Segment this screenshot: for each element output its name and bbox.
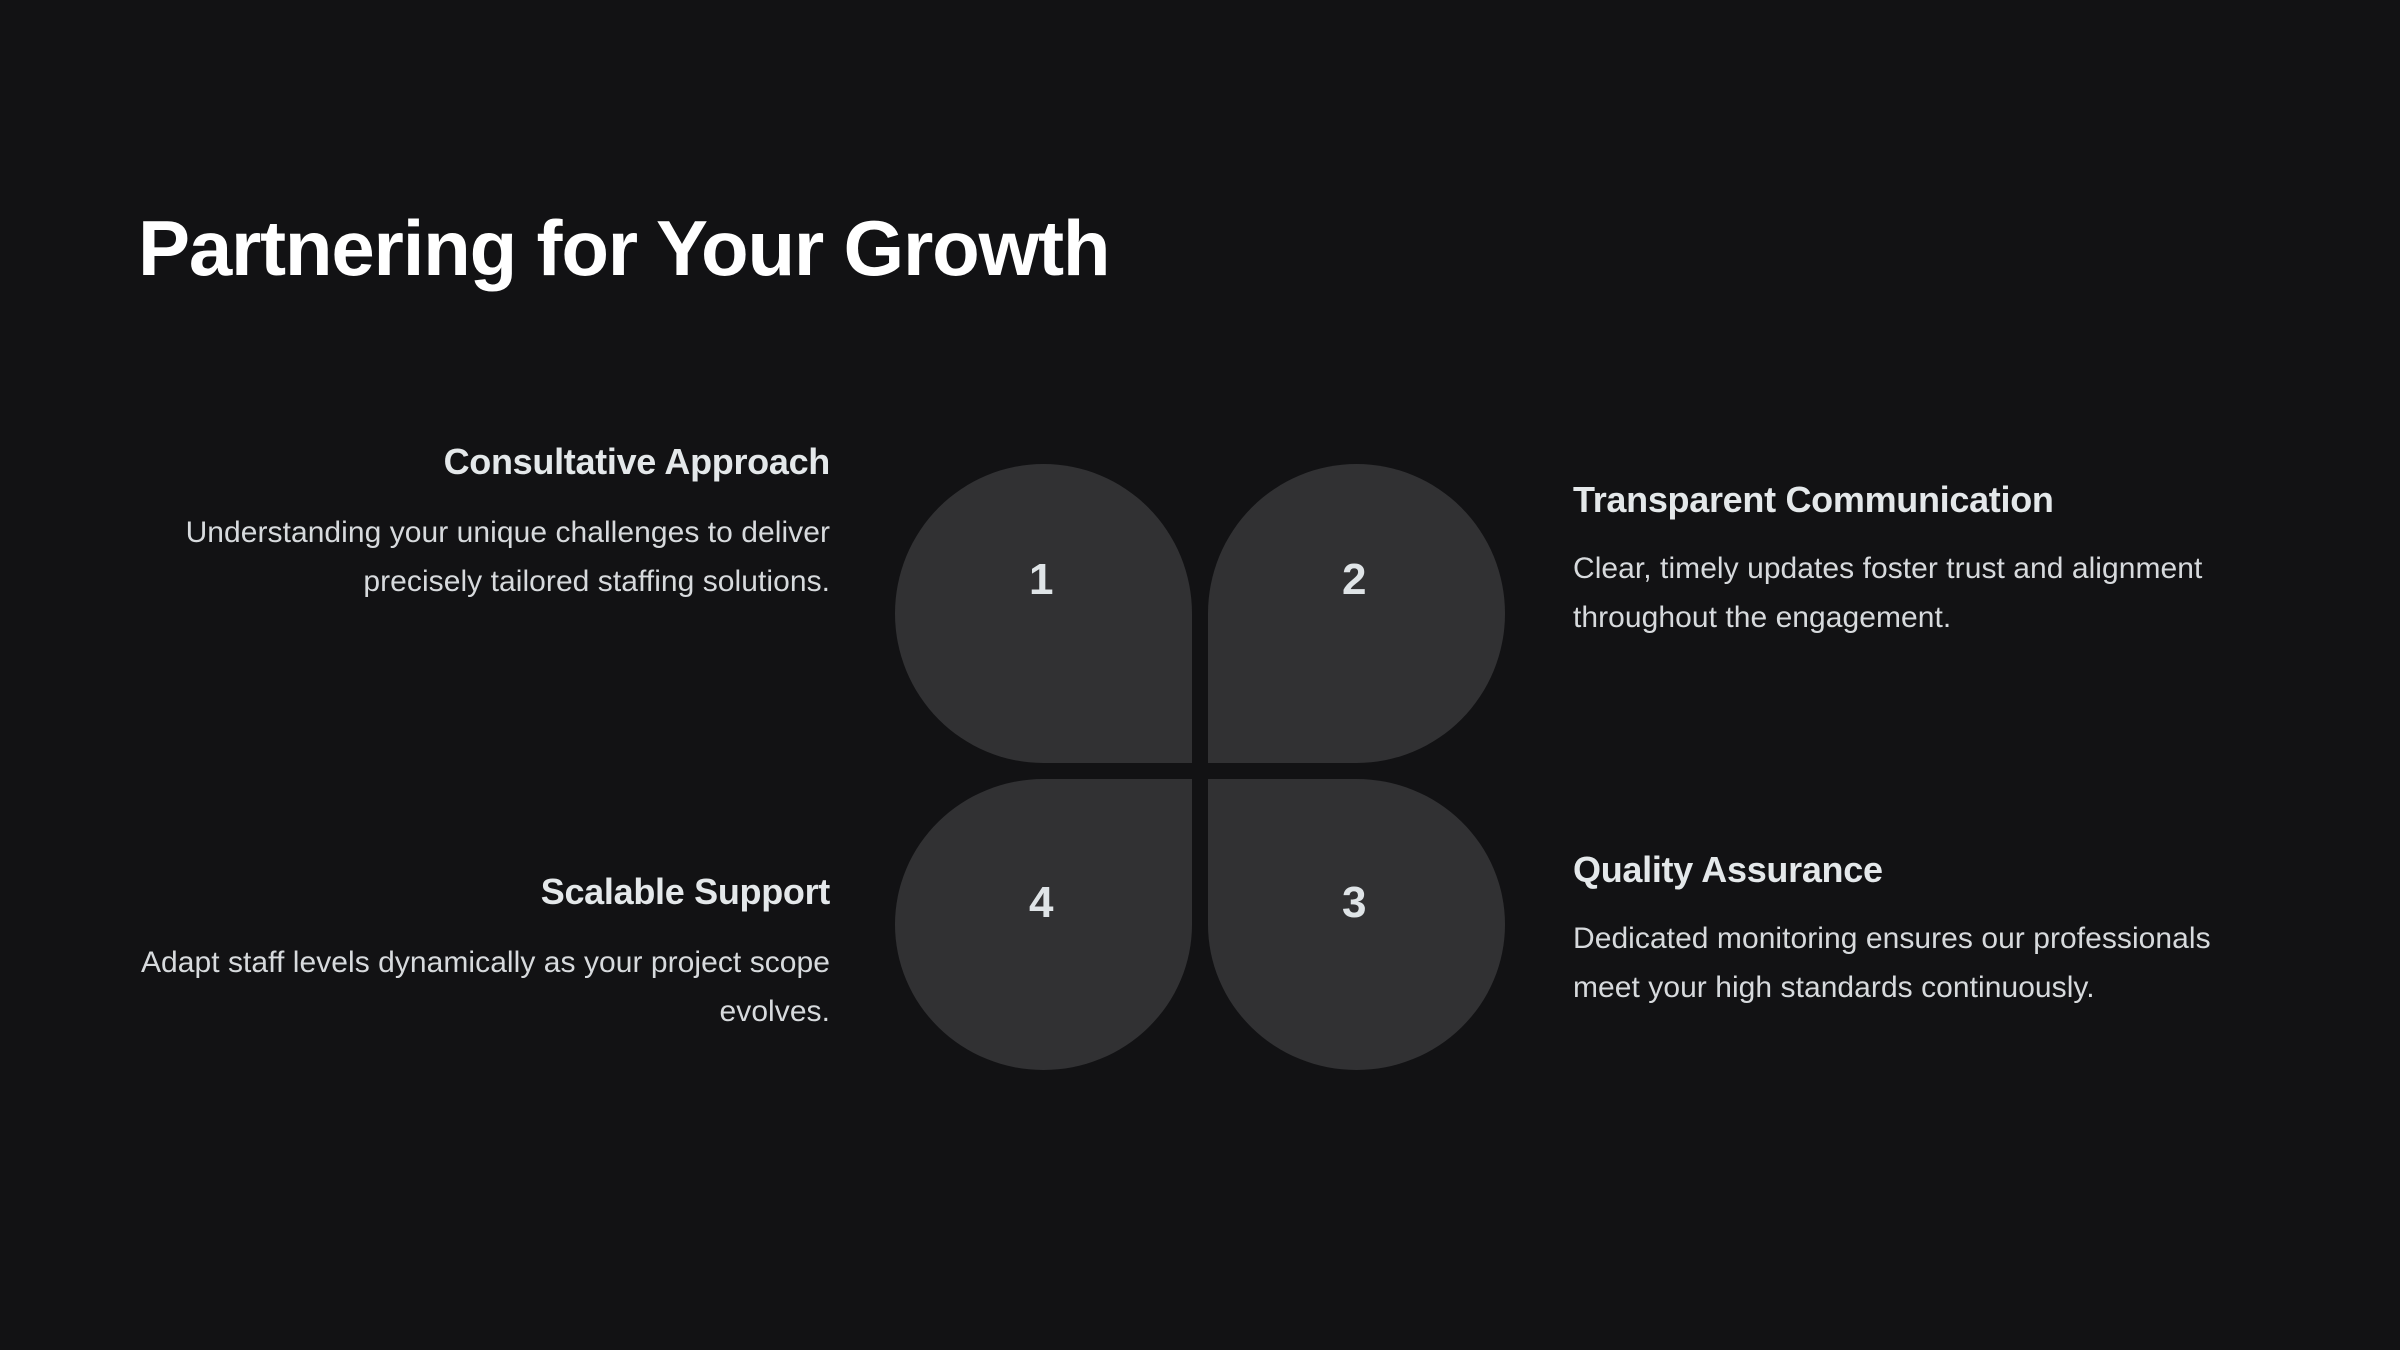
petal-number-3: 3	[1342, 881, 1367, 925]
feature-description-transparent-communication: Clear, timely updates foster trust and a…	[1573, 545, 2273, 642]
petal-quadrant-1[interactable]: 1	[895, 464, 1192, 763]
petal-quadrant-4[interactable]: 4	[895, 779, 1192, 1070]
petal-number-1: 1	[1029, 558, 1054, 602]
petal-quadrant-3[interactable]: 3	[1208, 779, 1505, 1070]
page-title: Partnering for Your Growth	[138, 208, 1109, 290]
petal-number-2: 2	[1342, 558, 1367, 602]
feature-block-consultative-approach: Consultative Approach Understanding your…	[140, 440, 830, 606]
petal-diagram: 1 2 4 3	[895, 464, 1505, 1070]
feature-block-transparent-communication: Transparent Communication Clear, timely …	[1573, 478, 2273, 642]
feature-description-quality-assurance: Dedicated monitoring ensures our profess…	[1573, 915, 2273, 1012]
slide-root: Partnering for Your Growth Consultative …	[0, 0, 2400, 1350]
feature-title-transparent-communication: Transparent Communication	[1573, 478, 2273, 521]
feature-title-consultative-approach: Consultative Approach	[140, 440, 830, 483]
petal-number-4: 4	[1029, 881, 1054, 925]
feature-block-quality-assurance: Quality Assurance Dedicated monitoring e…	[1573, 848, 2273, 1012]
petal-quadrant-2[interactable]: 2	[1208, 464, 1505, 763]
feature-title-scalable-support: Scalable Support	[140, 870, 830, 913]
feature-description-consultative-approach: Understanding your unique challenges to …	[140, 509, 830, 606]
feature-description-scalable-support: Adapt staff levels dynamically as your p…	[140, 939, 830, 1036]
feature-block-scalable-support: Scalable Support Adapt staff levels dyna…	[140, 870, 830, 1036]
feature-title-quality-assurance: Quality Assurance	[1573, 848, 2273, 891]
